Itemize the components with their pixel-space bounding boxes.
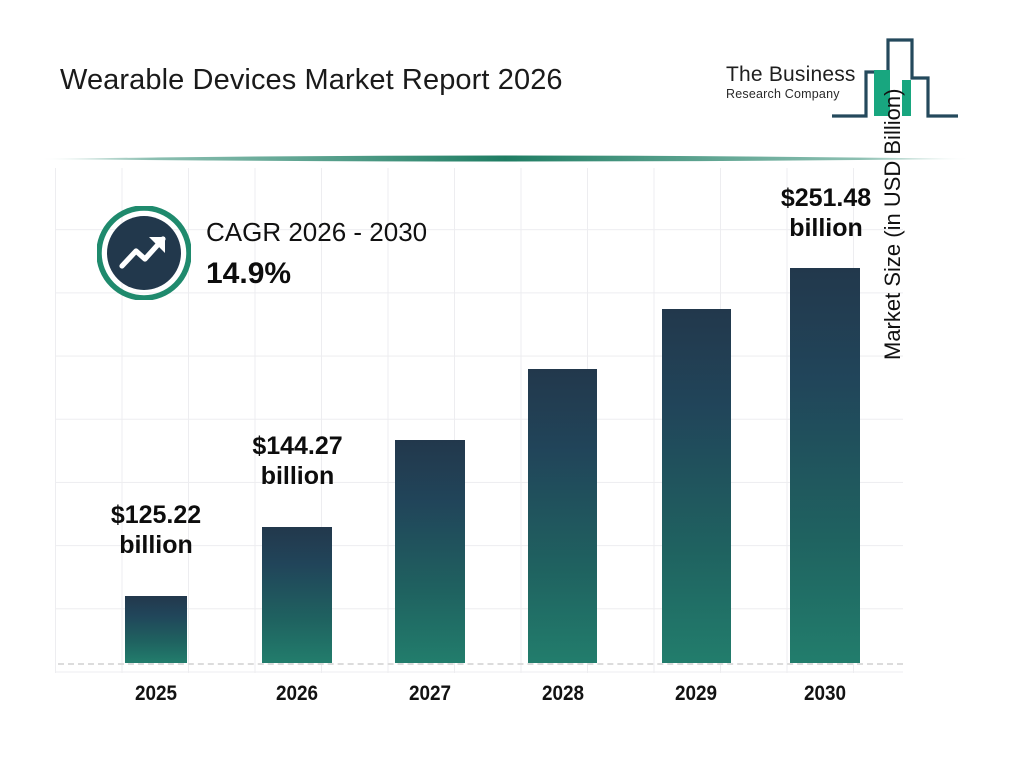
x-axis-label-2026: 2026 [261,682,333,706]
bar-value-amount-2030: $251.48 [752,183,900,213]
bar-2027[interactable] [395,440,465,663]
x-axis-label-2030: 2030 [789,682,861,706]
x-axis-label-2027: 2027 [394,682,466,706]
bar-chart: $125.22 billion $144.27 billion $251.48 … [0,160,1024,720]
bar-value-unit-2026: billion [225,461,370,491]
bar-2028[interactable] [528,369,597,663]
cagr-badge-icon [97,206,191,300]
chart-plot-area: $125.22 billion $144.27 billion $251.48 … [0,160,1024,720]
bar-value-amount-2026: $144.27 [225,431,370,461]
bar-2025[interactable] [125,596,187,663]
x-axis-label-2025: 2025 [120,682,192,706]
bar-value-amount-2025: $125.22 [86,500,226,530]
page-title: Wearable Devices Market Report 2026 [60,64,563,97]
cagr-callout: CAGR 2026 - 2030 14.9% [206,216,427,292]
brand-logo: The Business Research Company [726,32,970,124]
cagr-value: 14.9% [206,256,427,292]
bar-2026[interactable] [262,527,332,663]
bar-value-unit-2025: billion [86,530,226,560]
bar-value-label-2030: $251.48 billion [752,183,900,243]
cagr-period-label: CAGR 2026 - 2030 [206,216,427,248]
bar-2029[interactable] [662,309,731,663]
bar-2030[interactable] [790,268,860,663]
x-axis-label-2029: 2029 [660,682,732,706]
bar-value-unit-2030: billion [752,213,900,243]
bar-value-label-2026: $144.27 billion [225,431,370,491]
x-axis-label-2028: 2028 [527,682,599,706]
y-axis-title: Market Size (in USD Billion) [880,80,906,360]
bar-value-label-2025: $125.22 billion [86,500,226,560]
